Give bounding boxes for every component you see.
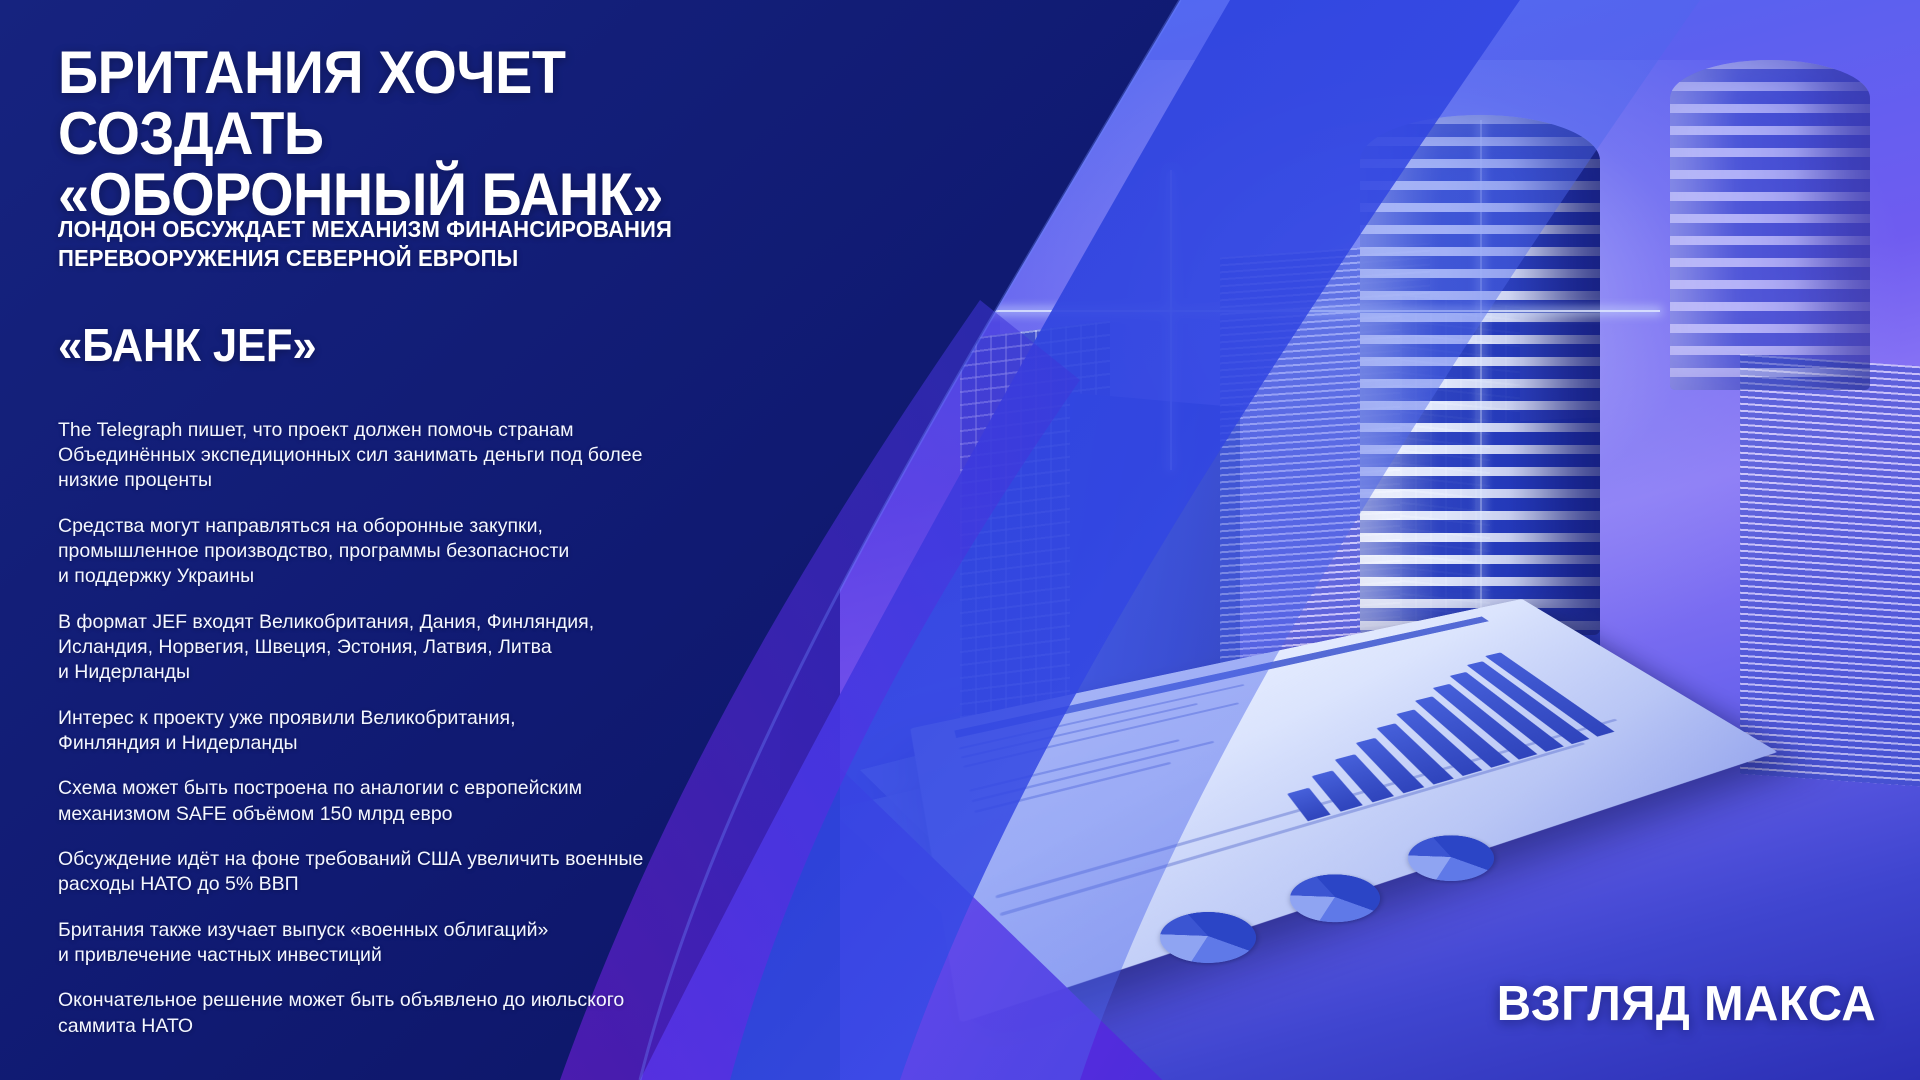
page-subtitle-line-2: перевооружения Северной Европы bbox=[58, 245, 518, 271]
page-subtitle-line-1: Лондон обсуждает механизм финансирования bbox=[58, 216, 672, 242]
page-title: Британия хочет создать «Оборонный банк» bbox=[58, 42, 802, 226]
list-item: В формат JEF входят Великобритания, Дани… bbox=[58, 610, 818, 686]
list-item: Интерес к проекту уже проявили Великобри… bbox=[58, 706, 818, 757]
bullet-list: The Telegraph пишет, что проект должен п… bbox=[58, 398, 818, 1059]
brand-watermark: Взгляд Макса bbox=[1497, 976, 1876, 1032]
list-item: Окончательное решение может быть объявле… bbox=[58, 988, 818, 1039]
infographic-slide: Британия хочет создать «Оборонный банк» … bbox=[0, 0, 1920, 1080]
list-item: Схема может быть построена по аналогии с… bbox=[58, 776, 818, 827]
list-item: Обсуждение идёт на фоне требований США у… bbox=[58, 847, 818, 898]
page-subtitle: Лондон обсуждает механизм финансирования… bbox=[58, 215, 807, 273]
section-kicker: «Банк JEF» bbox=[58, 318, 317, 372]
text-column: Британия хочет создать «Оборонный банк» … bbox=[58, 0, 778, 1080]
list-item: Средства могут направляться на оборонные… bbox=[58, 514, 818, 590]
page-title-line-1: Британия хочет создать bbox=[58, 39, 565, 167]
list-item: The Telegraph пишет, что проект должен п… bbox=[58, 418, 818, 494]
list-item: Британия также изучает выпуск «военных о… bbox=[58, 918, 818, 969]
